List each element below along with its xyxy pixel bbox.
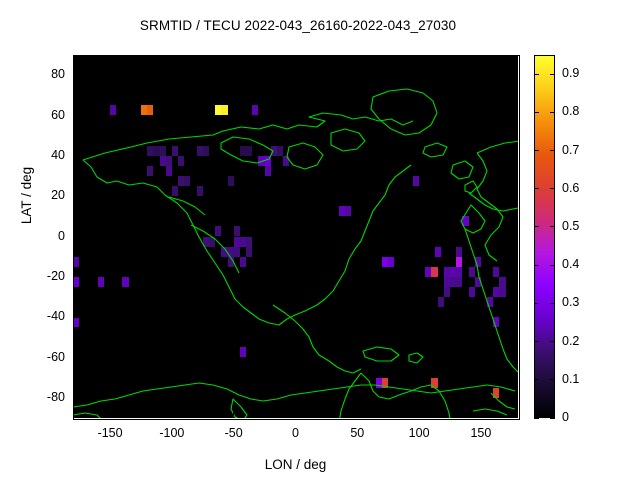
x-axis-label: LON / deg [73,457,518,472]
y-tick-mark [512,397,518,398]
x-tick-mark [419,412,420,418]
coastline-layer [73,55,518,418]
colorbar-tick-mark [550,226,555,227]
y-tick-mark [73,276,79,277]
x-tick-label: 0 [266,426,326,440]
colorbar-tick-mark [534,341,539,342]
y-tick-mark [73,357,79,358]
x-tick-mark [295,412,296,418]
colorbar[interactable] [534,55,555,418]
y-tick-mark [512,276,518,277]
colorbar-tick-mark [534,303,539,304]
colorbar-tick-mark [550,112,555,113]
colorbar-tick-mark [550,341,555,342]
x-tick-mark [171,55,172,61]
x-tick-mark [419,55,420,61]
colorbar-tick-mark [534,112,539,113]
x-tick-mark [110,55,111,61]
colorbar-tick-label: 0.9 [562,66,602,80]
colorbar-tick-mark [534,379,539,380]
x-tick-label: 100 [389,426,449,440]
colorbar-tick-mark [550,379,555,380]
x-tick-mark [357,412,358,418]
colorbar-tick-mark [534,188,539,189]
x-tick-mark [110,412,111,418]
x-tick-label: 150 [451,426,511,440]
colorbar-tick-label: 0.2 [562,334,602,348]
y-tick-label: 0 [31,229,65,243]
colorbar-tick-mark [534,150,539,151]
colorbar-tick-label: 0.8 [562,104,602,118]
y-tick-mark [73,397,79,398]
x-tick-mark [171,412,172,418]
colorbar-tick-mark [550,188,555,189]
y-tick-label: -20 [31,269,65,283]
y-tick-mark [512,196,518,197]
colorbar-tick-label: 0.1 [562,372,602,386]
x-tick-mark [357,55,358,61]
y-tick-mark [73,196,79,197]
x-tick-label: -100 [142,426,202,440]
y-tick-mark [512,236,518,237]
colorbar-tick-mark [550,418,555,419]
y-tick-label: -60 [31,350,65,364]
y-tick-mark [512,357,518,358]
y-tick-mark [512,155,518,156]
colorbar-tick-label: 0.5 [562,219,602,233]
x-tick-mark [480,55,481,61]
colorbar-tick-mark [534,226,539,227]
y-tick-label: 60 [31,108,65,122]
y-tick-mark [73,115,79,116]
y-tick-label: -80 [31,390,65,404]
colorbar-tick-label: 0.7 [562,143,602,157]
y-tick-label: 80 [31,67,65,81]
colorbar-tick-label: 0.4 [562,257,602,271]
colorbar-tick-mark [550,150,555,151]
y-tick-mark [512,75,518,76]
x-tick-label: 50 [327,426,387,440]
y-tick-label: 40 [31,148,65,162]
x-tick-label: -50 [204,426,264,440]
y-tick-label: 20 [31,188,65,202]
x-tick-label: -150 [80,426,140,440]
x-tick-mark [233,412,234,418]
colorbar-gradient [535,56,554,417]
heatmap-plot-area[interactable] [73,55,518,418]
x-tick-mark [295,55,296,61]
y-tick-mark [73,317,79,318]
colorbar-tick-mark [534,74,539,75]
colorbar-tick-label: 0 [562,410,602,424]
y-tick-mark [73,155,79,156]
colorbar-tick-mark [550,265,555,266]
x-tick-mark [480,412,481,418]
colorbar-tick-mark [550,303,555,304]
page-title: SRMTID / TECU 2022-043_26160-2022-043_27… [0,18,596,33]
colorbar-tick-mark [534,265,539,266]
y-tick-mark [73,236,79,237]
colorbar-tick-mark [550,74,555,75]
figure-canvas: SRMTID / TECU 2022-043_26160-2022-043_27… [0,0,640,480]
x-tick-mark [233,55,234,61]
y-tick-mark [73,75,79,76]
colorbar-tick-label: 0.3 [562,295,602,309]
y-tick-mark [512,115,518,116]
y-tick-mark [512,317,518,318]
y-tick-label: -40 [31,309,65,323]
y-axis-label: LAT / deg [19,167,34,224]
colorbar-tick-label: 0.6 [562,181,602,195]
colorbar-tick-mark [534,418,539,419]
